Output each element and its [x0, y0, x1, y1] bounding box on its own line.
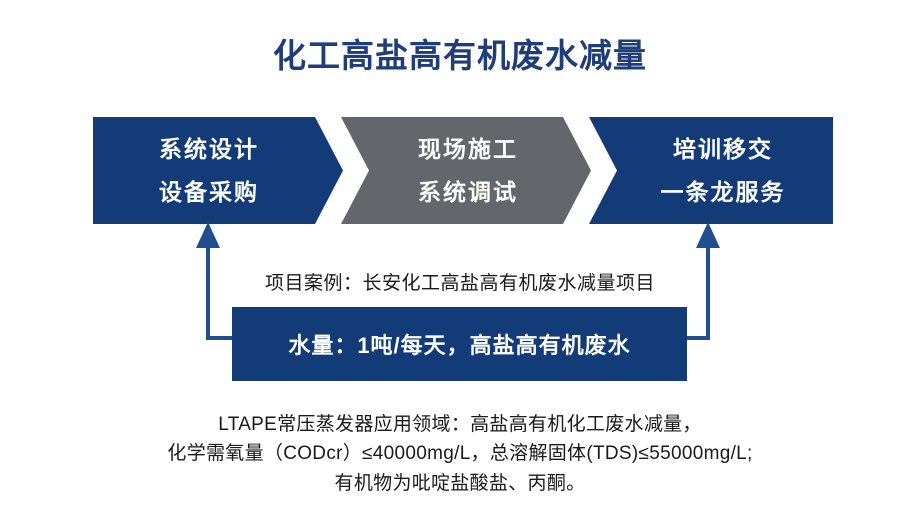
process-step-training-handover[interactable]: 培训移交 一条龙服务: [589, 117, 833, 224]
process-step-1-line-2: 设备采购: [159, 181, 259, 204]
footnote-line-2: 化学需氧量（CODcr）≤40000mg/L，总溶解固体(TDS)≤55000m…: [0, 439, 920, 468]
page-title: 化工高盐高有机废水减量: [0, 36, 920, 76]
process-step-2-line-2: 系统调试: [418, 181, 518, 204]
arrow-up-icon: [196, 222, 220, 248]
arrow-up-icon: [696, 222, 720, 248]
process-step-3-line-2: 一条龙服务: [661, 181, 786, 204]
process-step-2-line-1: 现场施工: [418, 138, 518, 161]
process-step-site-construction[interactable]: 现场施工 系统调试: [341, 117, 591, 224]
footnote-line-3: 有机物为吡啶盐酸盐、丙酮。: [0, 469, 920, 498]
slide-canvas: 化工高盐高有机废水减量 系统设计 设备采购 现场施工 系统调试 培训移交 一条龙…: [0, 0, 920, 522]
footnote-block: LTAPE常压蒸发器应用领域：高盐高有机化工废水减量， 化学需氧量（CODcr）…: [0, 410, 920, 498]
process-step-3-line-1: 培训移交: [673, 138, 773, 161]
case-caption: 项目案例：长安化工高盐高有机废水减量项目: [0, 268, 920, 295]
process-flow: 系统设计 设备采购 现场施工 系统调试 培训移交 一条龙服务: [93, 117, 833, 224]
case-highlight-text: 水量：1吨/每天，高盐高有机废水: [288, 328, 630, 360]
footnote-line-1: LTAPE常压蒸发器应用领域：高盐高有机化工废水减量，: [0, 410, 920, 439]
process-step-system-design[interactable]: 系统设计 设备采购: [93, 117, 343, 224]
process-step-1-line-1: 系统设计: [159, 138, 259, 161]
case-highlight-bar: 水量：1吨/每天，高盐高有机废水: [232, 307, 687, 381]
